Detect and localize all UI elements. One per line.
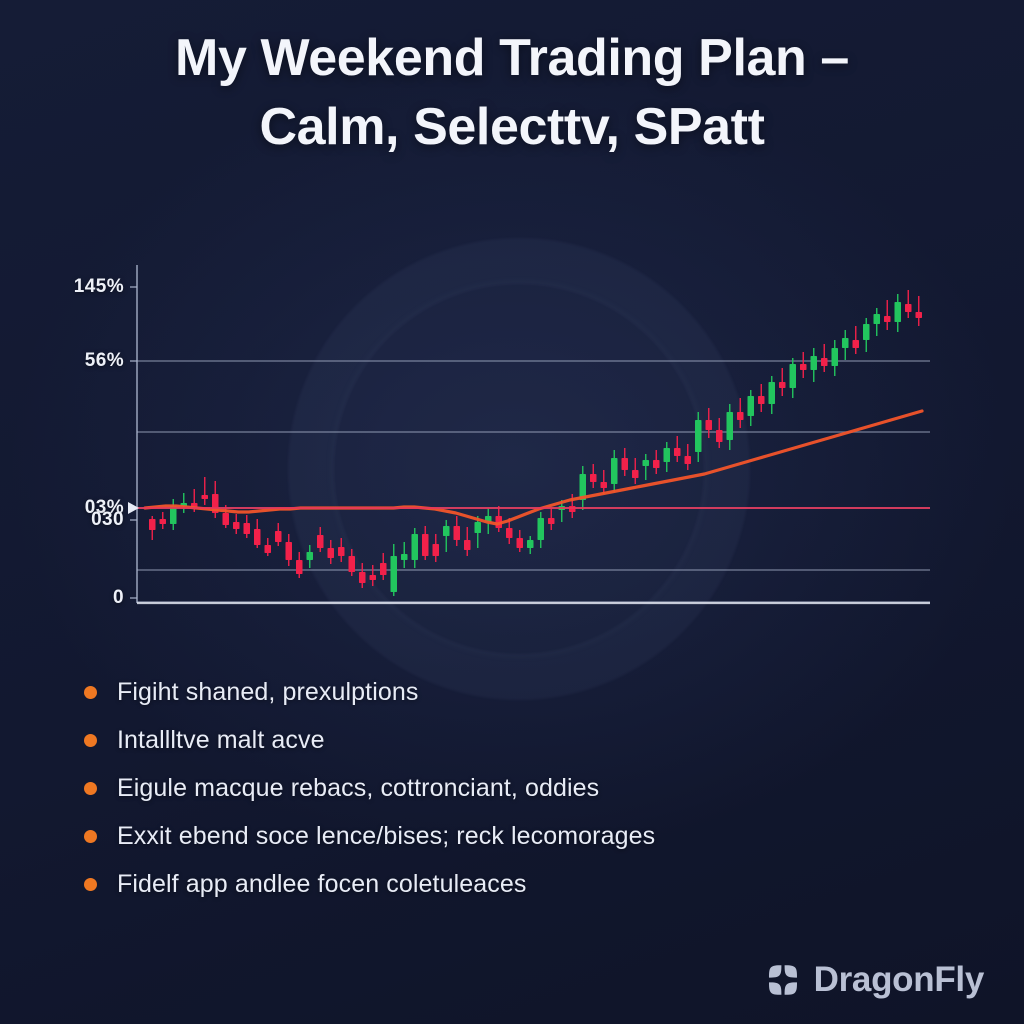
brand-logo: DragonFly <box>766 960 984 1000</box>
bullet-list: Figiht shaned, prexulptions Intallltve m… <box>84 668 964 908</box>
four-petal-icon <box>766 963 800 997</box>
bullet-text: Eigule macque rebacs, cottronciant, oddi… <box>117 774 599 803</box>
list-item: Exxit ebend soce lence/bises; reck lecom… <box>84 812 964 860</box>
list-item: Fidelf app andlee focen coletuleaces <box>84 860 964 908</box>
bullet-dot-icon <box>84 830 97 843</box>
poster-canvas: My Weekend Trading Plan – Calm, Selecttv… <box>0 0 1024 1024</box>
bullet-text: Fidelf app andlee focen coletuleaces <box>117 870 526 899</box>
list-item: Intallltve malt acve <box>84 716 964 764</box>
y-axis-tick-label: 0 <box>113 587 124 609</box>
bullet-text: Exxit ebend soce lence/bises; reck lecom… <box>117 822 655 851</box>
brand-name: DragonFly <box>814 960 984 1000</box>
y-axis-tick-label: 145% <box>74 276 124 298</box>
ring-watermark-inner <box>330 280 708 658</box>
bullet-text: Figiht shaned, prexulptions <box>117 678 419 707</box>
bullet-dot-icon <box>84 686 97 699</box>
y-axis-tick-label: 030 <box>91 509 124 531</box>
list-item: Eigule macque rebacs, cottronciant, oddi… <box>84 764 964 812</box>
bullet-text: Intallltve malt acve <box>117 726 325 755</box>
title-line-2: Calm, Selecttv, SPatt <box>40 93 984 162</box>
y-axis-tick-label: 56% <box>85 350 124 372</box>
page-title: My Weekend Trading Plan – Calm, Selecttv… <box>40 24 984 162</box>
list-item: Figiht shaned, prexulptions <box>84 668 964 716</box>
bullet-dot-icon <box>84 734 97 747</box>
bullet-dot-icon <box>84 782 97 795</box>
title-line-1: My Weekend Trading Plan – <box>40 24 984 93</box>
bullet-dot-icon <box>84 878 97 891</box>
